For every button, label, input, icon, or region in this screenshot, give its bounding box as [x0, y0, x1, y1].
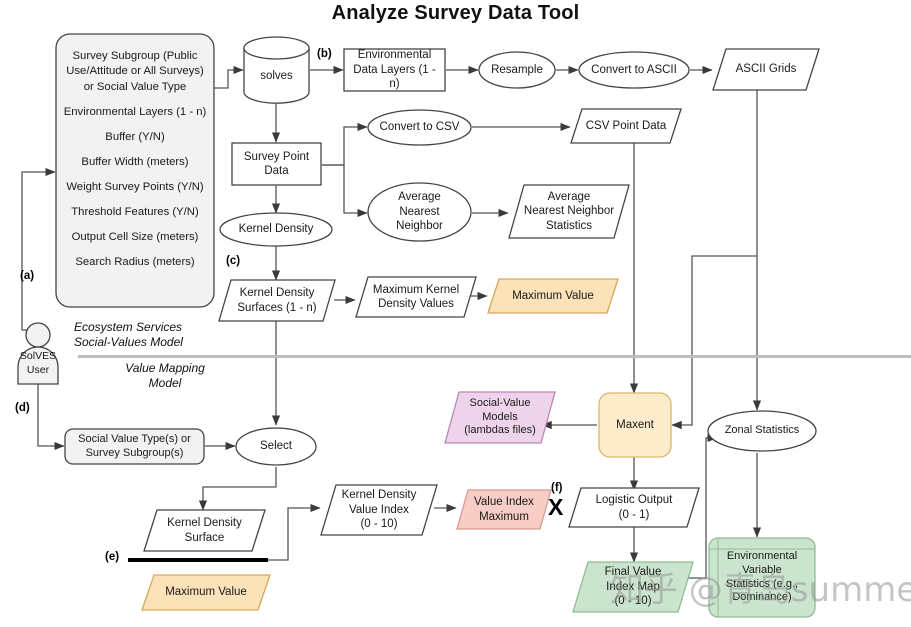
solves-label: solves	[256, 69, 297, 83]
upper-section-line2: Social-Values Model	[74, 335, 183, 349]
evs-line3: Statistics (e.g.,	[726, 578, 798, 590]
survey-point-line2: Data	[264, 165, 288, 177]
kernel-density-value-index-data: Kernel Density Value Index (0 - 10)	[320, 484, 438, 536]
svm-line2: Models	[482, 411, 517, 423]
fvim-line2: Index Map	[606, 581, 660, 593]
vim-line2: Maximum	[479, 511, 529, 523]
average-nearest-neighbor-process: Average Nearest Neighbor	[367, 182, 472, 242]
maximum-value-bottom-data: Maximum Value	[141, 574, 271, 611]
param-buffer: Buffer (Y/N)	[63, 130, 207, 144]
csv-point-data-label: CSV Point Data	[582, 119, 671, 133]
kdvi-line2: Value Index	[349, 504, 409, 516]
value-mapping-section-label: Value Mapping Model	[80, 361, 250, 391]
upper-section-line1: Ecosystem Services	[74, 320, 182, 334]
env-layers-line1: Environmental	[358, 49, 432, 61]
maximum-value-bottom-label: Maximum Value	[161, 585, 251, 599]
kernel-density-label: Kernel Density	[235, 222, 318, 236]
select-process: Select	[235, 427, 317, 466]
convert-to-ascii-process: Convert to ASCII	[578, 51, 690, 89]
kd-surface-line1: Kernel Density	[167, 517, 242, 529]
fvim-line3: (0 - 10)	[614, 595, 651, 607]
marker-c: (c)	[226, 255, 240, 267]
lower-section-line2: Model	[149, 376, 182, 390]
maxent-process: Maxent	[598, 392, 672, 458]
marker-a: (a)	[20, 270, 34, 282]
environmental-data-layers: Environmental Data Layers (1 - n)	[343, 48, 446, 92]
ann-stats-line2: Nearest Neighbor	[524, 205, 614, 217]
kds-line1: Kernel Density	[240, 287, 315, 299]
value-index-maximum-data: Value Index Maximum	[456, 489, 552, 530]
evs-line1: Environmental	[727, 550, 797, 562]
svm-line3: (lambdas files)	[464, 424, 536, 436]
param-threshold-features: Threshold Features (Y/N)	[63, 205, 207, 219]
svm-line1: Social-Value	[470, 397, 531, 409]
mkdv-line2: Density Values	[378, 298, 454, 310]
resample-process: Resample	[478, 51, 556, 89]
solves-user-actor: SolVES User	[13, 322, 63, 385]
maximum-value-top-data: Maximum Value	[487, 278, 619, 314]
marker-e: (e)	[105, 551, 119, 563]
marker-f: (f)	[551, 482, 563, 494]
param-survey-subgroup: Survey Subgroup (Public Use/Attitude or …	[63, 49, 207, 95]
model-section-divider	[78, 355, 911, 358]
solves-database: solves	[243, 36, 310, 104]
ann-line3: Neighbor	[396, 220, 443, 232]
convert-csv-label: Convert to CSV	[376, 120, 464, 134]
marker-d: (d)	[15, 402, 30, 414]
param-buffer-width: Buffer Width (meters)	[63, 155, 207, 169]
logistic-line1: Logistic Output	[596, 494, 673, 506]
actor-line1: SolVES	[20, 350, 56, 362]
diagram-canvas: Analyze Survey Data Tool	[0, 0, 911, 627]
resample-label: Resample	[487, 63, 547, 77]
max-kernel-density-values-data: Maximum Kernel Density Values	[355, 276, 477, 318]
social-value-type-input: Social Value Type(s) or Survey Subgroup(…	[64, 428, 205, 465]
kernel-density-surfaces-data: Kernel Density Surfaces (1 - n)	[218, 279, 336, 322]
social-value-models-data: Social-Value Models (lambdas files)	[444, 391, 556, 444]
evs-line4: Dominance)	[732, 591, 791, 603]
kernel-density-surface-data: Kernel Density Surface	[143, 509, 266, 552]
mkdv-line1: Maximum Kernel	[373, 284, 459, 296]
division-bar	[128, 558, 268, 562]
parameters-panel: Survey Subgroup (Public Use/Attitude or …	[55, 33, 215, 308]
vim-line1: Value Index	[474, 496, 534, 508]
csv-point-data: CSV Point Data	[570, 108, 682, 144]
actor-line2: User	[27, 364, 49, 376]
param-output-cell-size: Output Cell Size (meters)	[63, 230, 207, 244]
kd-surface-line2: Surface	[185, 532, 225, 544]
svt-line1: Social Value Type(s) or	[78, 433, 191, 445]
convert-ascii-label: Convert to ASCII	[587, 63, 681, 77]
kdvi-line1: Kernel Density	[342, 489, 417, 501]
param-weight-survey-points: Weight Survey Points (Y/N)	[63, 180, 207, 194]
zonal-statistics-process: Zonal Statistics	[707, 410, 817, 452]
maximum-value-top-label: Maximum Value	[508, 289, 598, 303]
ascii-grids-label: ASCII Grids	[732, 62, 801, 76]
multiply-operator: X	[548, 494, 563, 521]
final-value-index-map-data: Final Value Index Map (0 - 10)	[572, 561, 694, 613]
env-layers-line2: Data Layers (1 - n)	[353, 64, 435, 90]
ann-line1: Average	[398, 191, 441, 203]
ann-statistics-data: Average Nearest Neighbor Statistics	[508, 184, 630, 239]
kdvi-line3: (0 - 10)	[360, 518, 397, 530]
survey-point-data: Survey Point Data	[231, 142, 322, 186]
ann-stats-line3: Statistics	[546, 220, 592, 232]
ecosystem-services-section-label: Ecosystem Services Social-Values Model	[74, 320, 254, 350]
survey-point-line1: Survey Point	[244, 151, 309, 163]
kds-line2: Surfaces (1 - n)	[237, 302, 316, 314]
env-variable-statistics-output: Environmental Variable Statistics (e.g.,…	[708, 537, 816, 618]
evs-line2: Variable	[742, 564, 782, 576]
select-label: Select	[256, 439, 296, 453]
logistic-line2: (0 - 1)	[619, 509, 650, 521]
lower-section-line1: Value Mapping	[125, 361, 205, 375]
ann-line2: Nearest	[399, 206, 439, 218]
logistic-output-data: Logistic Output (0 - 1)	[568, 487, 700, 528]
param-environmental-layers: Environmental Layers (1 - n)	[63, 105, 207, 119]
convert-to-csv-process: Convert to CSV	[367, 109, 472, 146]
svt-line2: Survey Subgroup(s)	[86, 447, 184, 459]
ascii-grids-data: ASCII Grids	[712, 48, 820, 91]
maxent-label: Maxent	[612, 418, 658, 432]
param-search-radius: Search Radius (meters)	[63, 255, 207, 269]
zonal-statistics-label: Zonal Statistics	[721, 424, 804, 438]
fvim-line1: Final Value	[605, 566, 662, 578]
ann-stats-line1: Average	[548, 191, 591, 203]
kernel-density-process: Kernel Density	[219, 212, 333, 247]
marker-b: (b)	[317, 48, 332, 60]
